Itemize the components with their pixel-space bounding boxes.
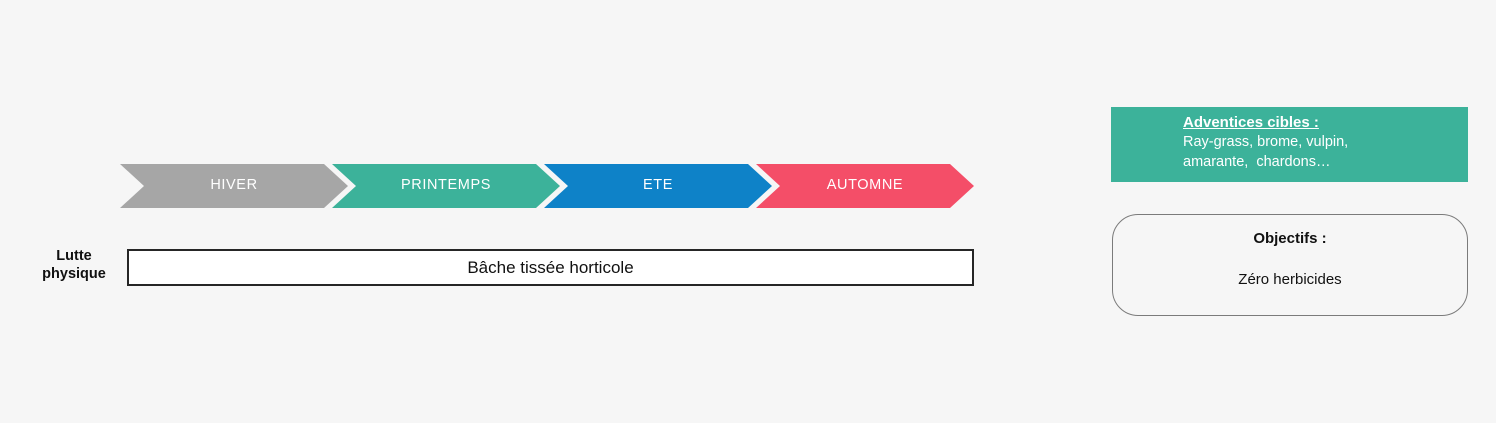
season-label-automne: AUTOMNE xyxy=(827,177,903,193)
season-timeline: HIVER PRINTEMPS ETE AUTOMNE xyxy=(118,162,976,210)
treatment-bar[interactable]: Bâche tissée horticole xyxy=(127,249,974,286)
target-weeds-line-2: amarante, chardons… xyxy=(1183,153,1468,173)
season-label-printemps: PRINTEMPS xyxy=(401,177,491,193)
treatment-bar-label: Bâche tissée horticole xyxy=(467,258,633,278)
target-weeds-panel: Adventices cibles : Ray-grass, brome, vu… xyxy=(1111,107,1468,182)
row-label-line-2: physique xyxy=(28,265,120,283)
season-chevron-hiver[interactable]: HIVER xyxy=(120,162,348,208)
infographic-canvas: HIVER PRINTEMPS ETE AUTOMNE Lutte physiq… xyxy=(0,0,1496,423)
objectives-title: Objectifs : xyxy=(1113,230,1467,247)
season-label-hiver: HIVER xyxy=(210,177,257,193)
target-weeds-title: Adventices cibles : xyxy=(1183,113,1468,133)
season-label-ete: ETE xyxy=(643,177,673,193)
target-weeds-line-1: Ray-grass, brome, vulpin, xyxy=(1183,133,1468,153)
row-label-line-1: Lutte xyxy=(28,247,120,265)
row-label-physical-control: Lutte physique xyxy=(28,247,120,283)
season-chevron-printemps[interactable]: PRINTEMPS xyxy=(332,162,560,208)
season-chevron-automne[interactable]: AUTOMNE xyxy=(756,162,974,208)
season-chevron-ete[interactable]: ETE xyxy=(544,162,772,208)
objectives-value: Zéro herbicides xyxy=(1113,271,1467,288)
objectives-box: Objectifs : Zéro herbicides xyxy=(1112,214,1468,316)
